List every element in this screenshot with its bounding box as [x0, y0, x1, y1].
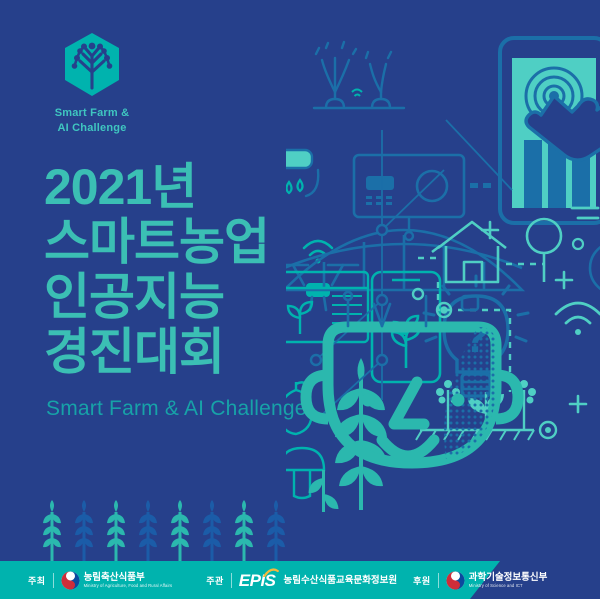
- control-box-icon: [354, 155, 491, 240]
- sponsor-role-label: 주관: [206, 574, 224, 587]
- sponsor-host: 주관 EPIS 농림수산식품교육문화정보원: [206, 572, 397, 589]
- sprinkler-wifi-icon: [352, 90, 362, 97]
- divider: [53, 573, 54, 588]
- sponsor-name-ko: 농림수산식품교육문화정보원: [284, 575, 398, 586]
- sponsor-role-label: 주최: [28, 574, 46, 587]
- right-eye-icon: [452, 394, 465, 407]
- sponsor-name-en: Ministry of Science and ICT: [469, 583, 548, 589]
- smile-icon: [382, 440, 434, 456]
- wheat-stalk: [43, 500, 61, 562]
- menu-lines-icon: [572, 208, 598, 218]
- epis-logo: EPIS: [239, 572, 276, 589]
- korea-government-taegeuk-emblem-icon: [61, 571, 80, 590]
- divider: [231, 573, 232, 588]
- sponsor-supporter: 후원 과학기술정보통신부 Ministry of Science and ICT: [413, 571, 547, 590]
- sponsor-name-ko: 농림축산식품부: [84, 572, 173, 583]
- tree-icon: [527, 219, 561, 282]
- brand-logo-text: Smart Farm & AI Challenge: [38, 106, 146, 136]
- water-drops-icon: [286, 180, 303, 193]
- divider: [438, 573, 439, 588]
- sponsor-organizer: 주최 농림축산식품부 Ministry of Agriculture, Food…: [28, 571, 172, 590]
- epis-swoosh-icon: [263, 568, 279, 577]
- nose-icon: [394, 382, 424, 424]
- footer-sponsor-bar: 주최 농림축산식품부 Ministry of Agriculture, Food…: [0, 561, 600, 599]
- smiling-face-illustration: [306, 327, 518, 463]
- wheat-stalk-row: [0, 500, 600, 562]
- water-drop-icon: [590, 242, 600, 294]
- korea-government-taegeuk-emblem-icon: [446, 571, 465, 590]
- brand-logo: Smart Farm & AI Challenge: [38, 30, 146, 136]
- sponsor-name-ko: 과학기술정보통신부: [469, 572, 548, 583]
- poster-subtitle: Smart Farm & AI Challenge: [46, 397, 307, 421]
- wifi-icon: [556, 303, 600, 335]
- smart-farm-circuit-tree-logo-icon: [58, 30, 126, 100]
- mushroom-icon: [286, 448, 324, 498]
- left-eye-icon: [362, 394, 375, 407]
- poster: Smart Farm & AI Challenge 2021년 스마트농업 인공…: [0, 0, 600, 599]
- sponsor-role-label: 후원: [413, 574, 431, 587]
- sponsor-name-en: Ministry of Agriculture, Food and Rural …: [84, 583, 173, 589]
- smart-farm-ai-illustration: ?: [286, 0, 600, 560]
- head-antennae: [344, 292, 478, 326]
- sprinkler-icon: [314, 42, 404, 108]
